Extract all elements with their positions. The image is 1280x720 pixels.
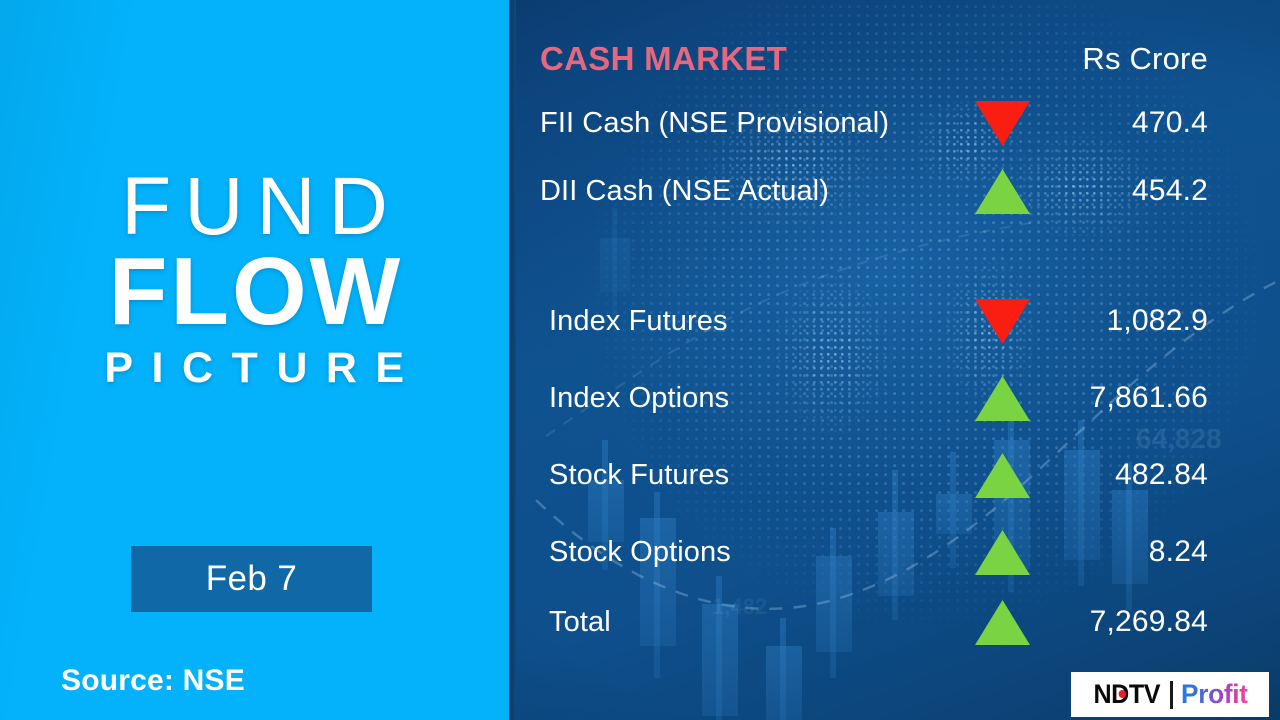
row-value: 7,269.84 — [1090, 597, 1208, 647]
row-value: 470.4 — [1132, 98, 1208, 148]
row-label: DII Cash (NSE Actual) — [540, 166, 829, 216]
logo-separator-bar — [1170, 681, 1173, 709]
brand-title-line-flow: FLOW — [0, 243, 509, 341]
row-value: 482.84 — [1115, 450, 1208, 500]
brand-title: FUND FLOW PICTURE — [0, 168, 509, 390]
row-value: 8.24 — [1149, 527, 1208, 577]
row-label: Stock Futures — [549, 450, 729, 500]
table-row: FII Cash (NSE Provisional) 470.4 — [516, 98, 1280, 148]
table-row: Stock Futures 482.84 — [516, 450, 1280, 500]
table-row: DII Cash (NSE Actual) 454.2 — [516, 166, 1280, 216]
row-value: 454.2 — [1132, 166, 1208, 216]
row-label: Index Futures — [549, 296, 728, 346]
fund-flow-picture-graphic: FUND FLOW PICTURE Feb 7 Source: NSE — [0, 0, 1280, 720]
source-label: Source: NSE — [61, 664, 245, 698]
arrow-down-icon — [975, 299, 1030, 344]
brand-title-line-fund: FUND — [0, 168, 509, 247]
left-brand-panel: FUND FLOW PICTURE Feb 7 Source: NSE — [0, 0, 509, 720]
brand-title-line-picture: PICTURE — [0, 347, 509, 390]
arrow-down-icon — [975, 101, 1030, 146]
panel-divider — [509, 0, 516, 720]
logo-ndtv-text: NDTV — [1093, 679, 1159, 709]
table-title: CASH MARKET — [540, 40, 787, 78]
table-unit-header: Rs Crore — [1082, 41, 1208, 77]
table-row: Index Options 7,861.66 — [516, 373, 1280, 423]
logo-ndtv-wordmark: NDTV — [1093, 679, 1159, 710]
arrow-up-icon — [975, 453, 1030, 498]
row-value: 7,861.66 — [1090, 373, 1208, 423]
table-row: Index Futures 1,082.9 — [516, 296, 1280, 346]
table-row: Total 7,269.84 — [516, 597, 1280, 647]
arrow-up-icon — [975, 169, 1030, 214]
cash-market-table: CASH MARKET Rs Crore FII Cash (NSE Provi… — [516, 0, 1280, 720]
row-value: 1,082.9 — [1107, 296, 1209, 346]
date-badge-label: Feb 7 — [206, 559, 298, 599]
row-label: Index Options — [549, 373, 729, 423]
date-badge: Feb 7 — [131, 546, 372, 612]
table-row: Stock Options 8.24 — [516, 527, 1280, 577]
logo-inner: NDTV Profit — [1091, 672, 1249, 717]
arrow-up-icon — [975, 530, 1030, 575]
row-label: Total — [549, 597, 611, 647]
logo-profit-text: Profit — [1181, 679, 1248, 710]
arrow-up-icon — [975, 600, 1030, 645]
row-label: Stock Options — [549, 527, 731, 577]
right-data-panel: 64,828 1,482 CASH MARKET Rs Crore FII Ca… — [516, 0, 1280, 720]
arrow-up-icon — [975, 376, 1030, 421]
ndtv-profit-logo: NDTV Profit — [1071, 672, 1269, 717]
logo-red-dot-icon — [1119, 690, 1126, 698]
row-label: FII Cash (NSE Provisional) — [540, 98, 889, 148]
